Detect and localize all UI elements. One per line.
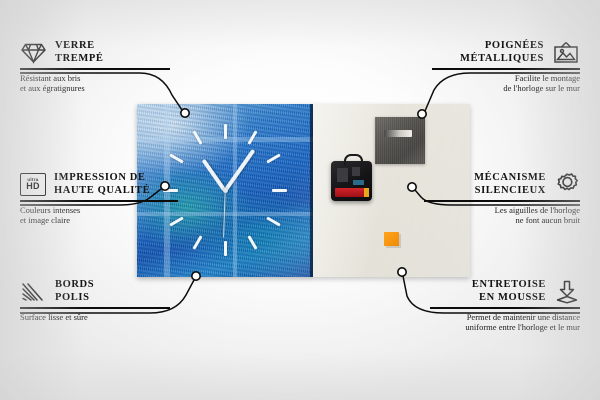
callout-mecanisme-silencieux[interactable]: MÉCANISME SILENCIEUX Les aiguilles de l'…: [424, 172, 580, 226]
infographic-stage: VERRE TREMPÉ Résistant aux bris et aux é…: [0, 0, 600, 400]
callout-description: Permet de maintenir une distance uniform…: [430, 312, 580, 333]
callout-title: IMPRESSION DE HAUTE QUALITÉ: [54, 172, 150, 197]
callout-rule: [20, 68, 170, 70]
callout-title: POIGNÉES MÉTALLIQUES: [460, 40, 544, 65]
polished-edges-icon: [20, 281, 47, 303]
callout-description: Couleurs intenses et image claire: [20, 205, 178, 226]
callout-description: Surface lisse et sûre: [20, 312, 170, 323]
callout-entretoise-en-mousse[interactable]: ENTRETOISE EN MOUSSE Permet de maintenir…: [430, 279, 580, 333]
leader-dot-verre: [181, 109, 189, 117]
framed-picture-on-wall-icon: [552, 41, 580, 64]
leader-dot-mecanisme: [408, 183, 416, 191]
callout-rule: [20, 200, 178, 202]
callout-header: ultra HD IMPRESSION DE HAUTE QUALITÉ: [20, 172, 178, 197]
callout-header: VERRE TREMPÉ: [20, 40, 170, 65]
callout-verre-trempe[interactable]: VERRE TREMPÉ Résistant aux bris et aux é…: [20, 40, 170, 94]
callout-rule: [20, 307, 170, 309]
callout-description: Les aiguilles de l'horloge ne font aucun…: [424, 205, 580, 226]
callout-header: POIGNÉES MÉTALLIQUES: [432, 40, 580, 65]
callout-title: BORDS POLIS: [55, 279, 94, 304]
callout-header: BORDS POLIS: [20, 279, 170, 304]
callout-header: ENTRETOISE EN MOUSSE: [430, 279, 580, 304]
callout-poignees-metalliques[interactable]: POIGNÉES MÉTALLIQUES Facilite le montage…: [432, 40, 580, 94]
ultra-hd-icon-large-text: HD: [26, 182, 39, 191]
diamond-icon: [20, 42, 47, 64]
callout-rule: [432, 68, 580, 70]
callout-rule: [424, 200, 580, 202]
callout-description: Facilite le montage de l'horloge sur le …: [432, 73, 580, 94]
callout-title: VERRE TREMPÉ: [55, 40, 104, 65]
leader-dot-entretoise: [398, 268, 406, 276]
callout-title: MÉCANISME SILENCIEUX: [474, 172, 546, 197]
leader-dot-poignees: [418, 110, 426, 118]
ultra-hd-icon: ultra HD: [20, 173, 46, 196]
callout-description: Résistant aux bris et aux égratignures: [20, 73, 170, 94]
leader-dot-bords: [192, 272, 200, 280]
gear-icon: [554, 172, 580, 197]
callout-bords-polis[interactable]: BORDS POLIS Surface lisse et sûre: [20, 279, 170, 322]
callout-impression-haute-qualite[interactable]: ultra HD IMPRESSION DE HAUTE QUALITÉ Cou…: [20, 172, 178, 226]
arrow-down-to-surface-icon: [554, 280, 580, 304]
callout-rule: [430, 307, 580, 309]
callout-header: MÉCANISME SILENCIEUX: [424, 172, 580, 197]
callout-title: ENTRETOISE EN MOUSSE: [472, 279, 546, 304]
